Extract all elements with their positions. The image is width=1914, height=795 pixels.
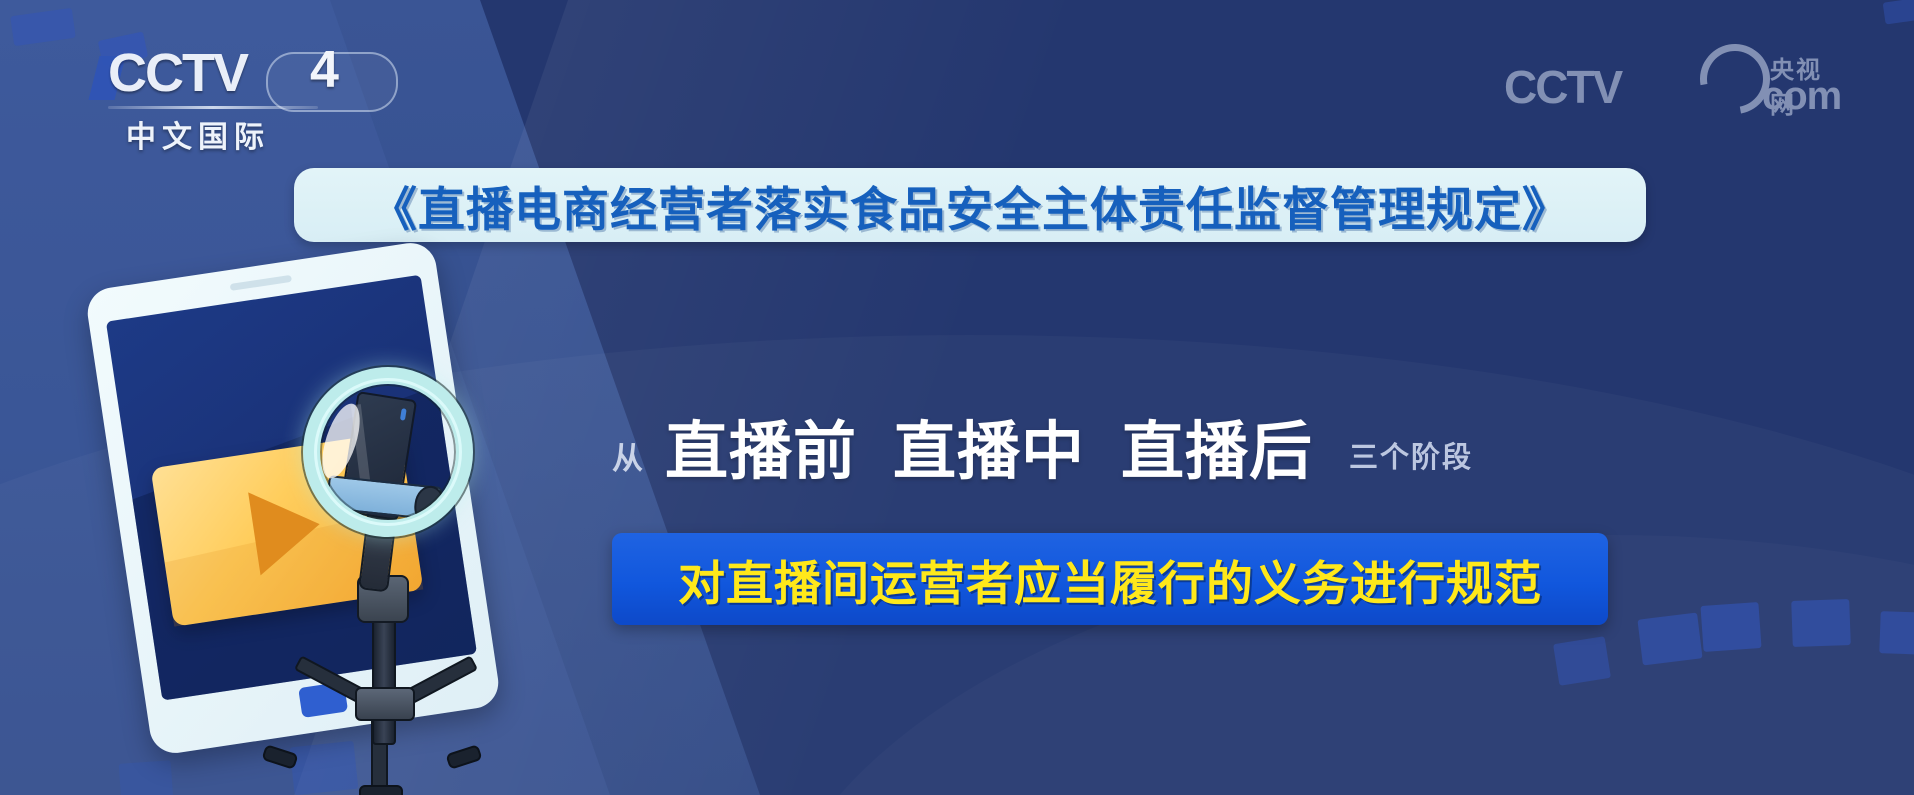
stage-suffix: 三个阶段 bbox=[1349, 434, 1473, 476]
ring-light-icon bbox=[303, 367, 473, 537]
page-title: 《直播电商经营者落实食品安全主体责任监督管理规定》 bbox=[370, 171, 1570, 240]
watermark-domain: com bbox=[1762, 74, 1841, 119]
logo-channel-number: 4 bbox=[310, 40, 339, 100]
broadcast-graphic: CCTV 4 中文国际 CCTV 央视网 com 《直播电商经营者落实食品安全主… bbox=[0, 0, 1914, 795]
livestream-illustration bbox=[95, 255, 735, 795]
decor-square bbox=[1553, 636, 1611, 686]
tripod-foot-right bbox=[445, 744, 482, 770]
decor-square bbox=[1700, 602, 1761, 652]
decor-square bbox=[1637, 613, 1702, 666]
highlight-callout-box: 对直播间运营者应当履行的义务进行规范 bbox=[612, 533, 1608, 625]
tripod-foot-back bbox=[359, 785, 403, 795]
decor-square bbox=[1879, 611, 1914, 655]
highlight-text: 对直播间运营者应当履行的义务进行规范 bbox=[678, 545, 1542, 614]
decor-square bbox=[1791, 599, 1851, 647]
play-icon bbox=[248, 483, 326, 576]
tablet-speaker-notch bbox=[230, 275, 292, 291]
stage-list: 从 直播前 直播中 直播后 三个阶段 bbox=[612, 398, 1473, 484]
cctv-com-watermark: CCTV 央视网 com bbox=[1504, 38, 1844, 118]
logo-subtitle: 中文国际 bbox=[126, 112, 270, 156]
stage-item-during: 直播中 bbox=[893, 421, 1085, 484]
stage-item-after: 直播后 bbox=[1121, 421, 1313, 484]
logo-divider-rule bbox=[108, 106, 318, 109]
tripod-hub bbox=[355, 687, 415, 721]
logo-letters: CCTV bbox=[108, 42, 247, 104]
tripod-foot-left bbox=[261, 744, 298, 770]
cctv4-logo: CCTV 4 中文国际 bbox=[88, 34, 348, 134]
tripod-pole bbox=[372, 611, 396, 745]
watermark-letters: CCTV bbox=[1504, 60, 1621, 114]
decor-square bbox=[1883, 0, 1914, 25]
regulation-title-banner: 《直播电商经营者落实食品安全主体责任监督管理规定》 bbox=[294, 168, 1646, 242]
